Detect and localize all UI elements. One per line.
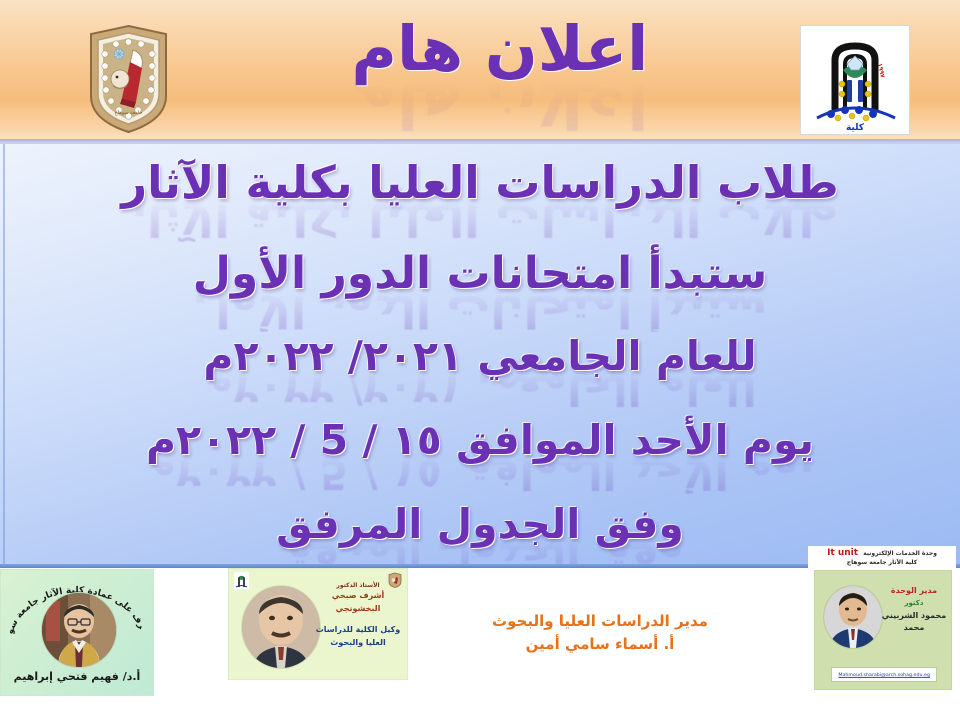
it-unit-body: مدير الوحدة دكتور محمود الشربيني محمد Ma… xyxy=(814,570,952,690)
poster-footer: المشرف على عمادة كلية الآثار جامعة سوهاج xyxy=(0,568,960,720)
it-unit-email-text: Mahmoud.sharabi@arch.sohag.edu.eg xyxy=(838,672,930,678)
announcement-line-1: طلاب الدراسات العليا بكلية الآثار طلاب ا… xyxy=(0,160,960,242)
it-unit-manager-text: مدير الوحدة دكتور محمود الشربيني محمد xyxy=(881,585,947,635)
vice-dean-card: الأستاذ الدكتور أشرف صبحي البخشونجي وكيل… xyxy=(228,568,408,680)
it-unit-manager-portrait xyxy=(823,585,883,649)
announcement-line-4-reflection: يوم الأحد الموافق ١٥ / 5 / ٢٠٢٢م xyxy=(0,452,960,494)
vice-dean-role-line-2: العليا والبحوث xyxy=(315,636,401,650)
it-unit-manager-role: مدير الوحدة xyxy=(881,585,947,597)
dean-portrait xyxy=(41,592,117,668)
page-title-reflection: اعلان هام xyxy=(300,74,700,136)
svg-text:كلية: كلية xyxy=(846,123,865,133)
announcement-line-3: للعام الجامعي ٢٠٢١/ ٢٠٢٢م للعام الجامعي … xyxy=(0,336,960,410)
body-left-border xyxy=(3,144,5,568)
faculty-emblem-icon xyxy=(234,572,249,589)
announcement-line-1-reflection: طلاب الدراسات العليا بكلية الآثار xyxy=(0,196,960,242)
it-unit-label-arabic: وحدة الخدمات الإلكترونية xyxy=(863,550,937,557)
vice-dean-text: الأستاذ الدكتور أشرف صبحي البخشونجي وكيل… xyxy=(315,581,401,650)
it-unit-header: It unit وحدة الخدمات الإلكترونية كلية ال… xyxy=(808,546,956,566)
announcement-body: طلاب الدراسات العليا بكلية الآثار طلاب ا… xyxy=(0,144,960,568)
faculty-of-archaeology-logo: كلية Faculty of Archaeology Sohag Univer… xyxy=(800,25,910,135)
announcement-line-3-reflection: للعام الجامعي ٢٠٢١/ ٢٠٢٢م xyxy=(0,368,960,410)
it-unit-label: It unit xyxy=(827,548,858,558)
announcement-line-2-reflection: ستبدأ امتحانات الدور الأول xyxy=(0,287,960,332)
director-role: مدير الدراسات العليا والبحوث xyxy=(430,610,770,633)
dean-card: المشرف على عمادة كلية الآثار جامعة سوهاج xyxy=(0,569,154,696)
it-unit-subtitle: كلية الآثار جامعة سوهاج xyxy=(808,559,956,566)
dean-name: أ.د/ فهيم فتحي إبراهيم xyxy=(1,670,153,683)
announcement-line-2: ستبدأ امتحانات الدور الأول ستبدأ امتحانا… xyxy=(0,252,960,332)
svg-text:جامعة سوهاج: جامعة سوهاج xyxy=(114,110,142,116)
it-unit-manager-doctor-label: دكتور xyxy=(881,597,947,610)
vice-dean-role-line-1: وكيل الكلية للدراسات xyxy=(315,623,401,637)
graduate-studies-director-note: مدير الدراسات العليا والبحوث أ. أسماء سا… xyxy=(430,610,770,657)
announcement-line-4: يوم الأحد الموافق ١٥ / 5 / ٢٠٢٢م يوم الأ… xyxy=(0,420,960,494)
it-unit-email-link[interactable]: Mahmoud.sharabi@arch.sohag.edu.eg xyxy=(831,667,937,682)
poster-header: جامعة سوهاج اعلان هام اعلان هام xyxy=(0,0,960,143)
vice-dean-prefix: الأستاذ الدكتور xyxy=(315,581,401,590)
vice-dean-name: أشرف صبحي البخشونجي xyxy=(315,590,401,616)
page-title: اعلان هام xyxy=(300,18,700,80)
it-unit-card: It unit وحدة الخدمات الإلكترونية كلية ال… xyxy=(808,546,956,694)
poster-title-block: اعلان هام اعلان هام xyxy=(300,18,700,136)
announcement-poster: جامعة سوهاج اعلان هام اعلان هام xyxy=(0,0,960,720)
director-name: أ. أسماء سامي أمين xyxy=(430,633,770,656)
vice-dean-portrait xyxy=(241,585,321,669)
it-unit-manager-name: محمود الشربيني محمد xyxy=(881,610,947,636)
sohag-university-shield-logo: جامعة سوهاج xyxy=(86,24,171,134)
